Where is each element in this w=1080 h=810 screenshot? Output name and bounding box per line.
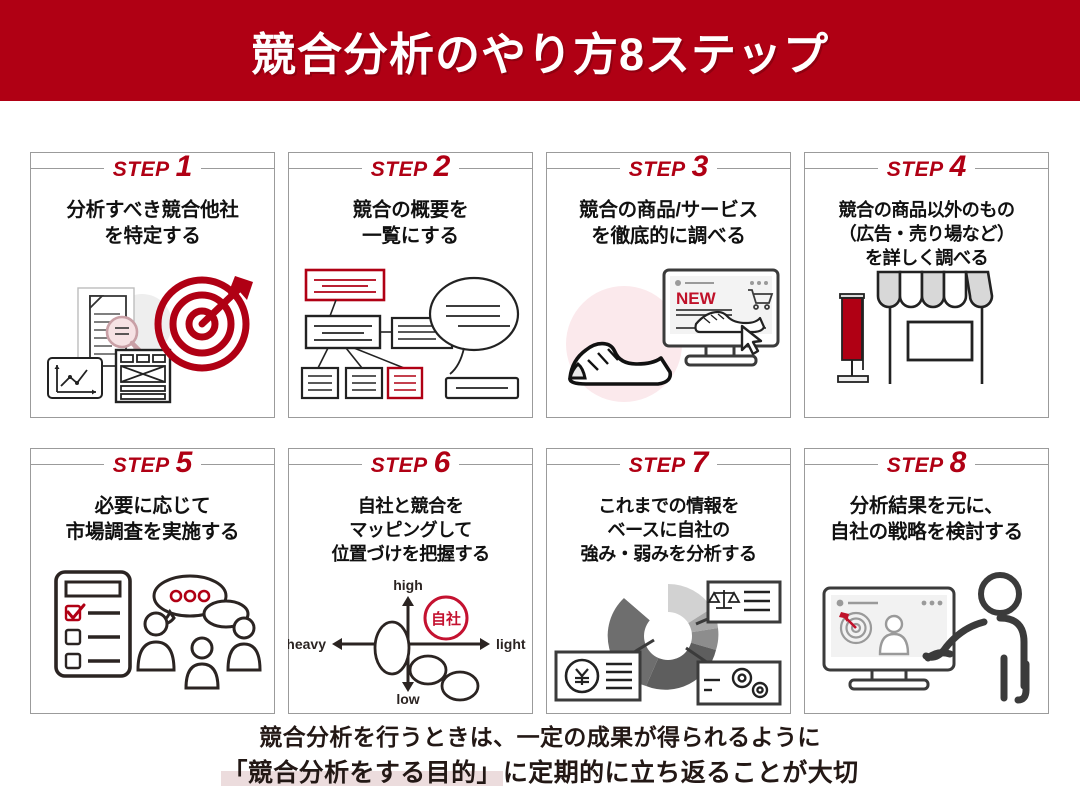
steps-grid: STEP 1 分析すべき競合他社 を特定する [30, 136, 1050, 714]
storefront-awning-banner-icon [804, 252, 1049, 412]
step-number: 6 [434, 451, 451, 475]
footer-line-2-rest: に定期的に立ち返ることが大切 [503, 759, 859, 787]
step-card-3[interactable]: STEP 3 競合の商品/サービス を徹底的に調べる NEW [546, 136, 791, 418]
step-card-7[interactable]: STEP 7 これまでの情報を ベースに自社の 強み・弱みを分析する [546, 432, 791, 714]
step-tag-1: STEP 1 [30, 152, 275, 184]
axis-label-heavy: heavy [288, 636, 326, 652]
footer-note: 競合分析を行うときは、一定の成果が得られるように 「競合分析をする目的」に定期的… [0, 722, 1080, 791]
tag-rule-right [975, 464, 1049, 465]
axis-label-light: light [496, 636, 526, 652]
tag-rule-right [459, 464, 533, 465]
step-number: 3 [692, 155, 709, 179]
step-tag-6: STEP 6 [288, 448, 533, 480]
tag-rule-left [804, 168, 878, 169]
step-number: 8 [950, 451, 967, 475]
step-number: 4 [950, 155, 967, 179]
donut-chart-callouts-icon [546, 576, 791, 708]
axis-label-high: high [393, 577, 423, 593]
tag-inner: STEP 8 [878, 451, 976, 478]
step-title: 必要に応じて 市場調査を実施する [30, 494, 275, 545]
positioning-map-icon: high low heavy light 自社 [288, 576, 533, 706]
step-card-1[interactable]: STEP 1 分析すべき競合他社 を特定する [30, 136, 275, 418]
step-word: STEP [113, 158, 170, 182]
sneaker-ecommerce-monitor-icon: NEW [546, 252, 791, 412]
tag-rule-left [546, 168, 620, 169]
tag-inner: STEP 3 [620, 155, 718, 182]
step-word: STEP [887, 158, 944, 182]
page-title: 競合分析のやり方8ステップ [251, 18, 829, 83]
tag-inner: STEP 1 [104, 155, 202, 182]
step-title: これまでの情報を ベースに自社の 強み・弱みを分析する [546, 494, 791, 566]
survey-clipboard-people-icon [30, 548, 275, 708]
footer-line-1: 競合分析を行うときは、一定の成果が得られるように [0, 722, 1080, 753]
tag-rule-left [804, 464, 878, 465]
step-title: 競合の概要を 一覧にする [288, 198, 533, 249]
tag-rule-right [717, 464, 791, 465]
step-number: 5 [176, 451, 193, 475]
tag-rule-left [546, 464, 620, 465]
step-number: 7 [692, 451, 709, 475]
step-word: STEP [371, 454, 428, 478]
org-chart-diagram-icon [288, 252, 533, 412]
step-tag-5: STEP 5 [30, 448, 275, 480]
step-word: STEP [887, 454, 944, 478]
footer-line-2: 「競合分析をする目的」に定期的に立ち返ることが大切 [0, 756, 1080, 791]
own-company-label: 自社 [431, 610, 461, 628]
step-card-2[interactable]: STEP 2 競合の概要を 一覧にする [288, 136, 533, 418]
tag-inner: STEP 4 [878, 155, 976, 182]
tag-rule-right [975, 168, 1049, 169]
step-word: STEP [629, 454, 686, 478]
axis-label-low: low [396, 691, 419, 706]
tag-rule-left [288, 168, 362, 169]
tag-inner: STEP 5 [104, 451, 202, 478]
step-card-6[interactable]: STEP 6 自社と競合を マッピングして 位置づけを把握する high low… [288, 432, 533, 714]
step-card-8[interactable]: STEP 8 分析結果を元に、 自社の戦略を検討する [804, 432, 1049, 714]
presenter-monitor-icon [804, 566, 1049, 706]
header-banner: 競合分析のやり方8ステップ [0, 0, 1080, 101]
step-title: 分析結果を元に、 自社の戦略を検討する [804, 494, 1049, 545]
step-title: 分析すべき競合他社 を特定する [30, 198, 275, 249]
step-title: 自社と競合を マッピングして 位置づけを把握する [288, 494, 533, 566]
tag-rule-right [717, 168, 791, 169]
tag-inner: STEP 6 [362, 451, 460, 478]
step-tag-2: STEP 2 [288, 152, 533, 184]
step-number: 2 [434, 155, 451, 179]
tag-rule-right [201, 168, 275, 169]
step-number: 1 [176, 155, 193, 179]
step-card-4[interactable]: STEP 4 競合の商品以外のもの （広告・売り場など） を詳しく調べる [804, 136, 1049, 418]
screen-new-label: NEW [676, 289, 717, 308]
tag-inner: STEP 7 [620, 451, 718, 478]
step-tag-7: STEP 7 [546, 448, 791, 480]
tag-rule-left [30, 464, 104, 465]
step-tag-8: STEP 8 [804, 448, 1049, 480]
step-word: STEP [371, 158, 428, 182]
step-word: STEP [113, 454, 170, 478]
step-tag-4: STEP 4 [804, 152, 1049, 184]
target-dart-documents-icon [30, 252, 275, 412]
footer-highlight: 「競合分析をする目的」 [221, 759, 502, 787]
step-card-5[interactable]: STEP 5 必要に応じて 市場調査を実施する [30, 432, 275, 714]
tag-rule-right [459, 168, 533, 169]
step-tag-3: STEP 3 [546, 152, 791, 184]
tag-inner: STEP 2 [362, 155, 460, 182]
step-title: 競合の商品/サービス を徹底的に調べる [546, 198, 791, 249]
step-word: STEP [629, 158, 686, 182]
tag-rule-right [201, 464, 275, 465]
tag-rule-left [288, 464, 362, 465]
tag-rule-left [30, 168, 104, 169]
